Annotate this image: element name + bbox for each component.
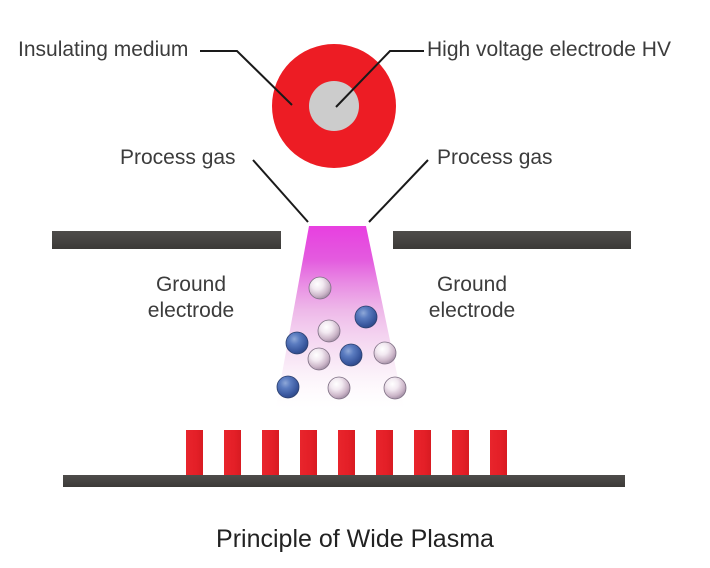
label-ground-electrode-left: Ground electrode [103, 272, 279, 324]
label-ground-electrode-left-line2: electrode [103, 298, 279, 324]
substrate-tooth [262, 430, 279, 478]
particle-blue [340, 344, 362, 366]
particle-blue [286, 332, 308, 354]
plasma-principle-diagram: Insulating medium High voltage electrode… [0, 0, 710, 568]
figure-title: Principle of Wide Plasma [0, 525, 710, 554]
high-voltage-electrode-core [309, 81, 359, 131]
particle-blue [355, 306, 377, 328]
label-insulating-medium: Insulating medium [18, 37, 188, 63]
label-high-voltage-electrode: High voltage electrode HV [427, 37, 671, 63]
substrate-support-bar [63, 475, 625, 487]
substrate-tooth [376, 430, 393, 478]
ground-electrode-right-bar [393, 231, 631, 249]
particle-blue [277, 376, 299, 398]
label-process-gas-right: Process gas [437, 145, 553, 171]
substrate-tooth [186, 430, 203, 478]
substrate-tooth [414, 430, 431, 478]
label-ground-electrode-right-line1: Ground [384, 272, 560, 298]
ground-electrode-left-bar [52, 231, 281, 249]
particle-white [308, 348, 330, 370]
substrate-tooth [338, 430, 355, 478]
particle-white [374, 342, 396, 364]
process-gas-right-leader [369, 160, 428, 222]
label-ground-electrode-left-line1: Ground [103, 272, 279, 298]
label-ground-electrode-right: Ground electrode [384, 272, 560, 324]
particle-white [318, 320, 340, 342]
substrate-teeth-group [186, 430, 507, 478]
substrate-tooth [224, 430, 241, 478]
substrate-tooth [490, 430, 507, 478]
process-gas-left-leader [253, 160, 308, 222]
label-process-gas-left: Process gas [120, 145, 236, 171]
particle-white [309, 277, 331, 299]
substrate-tooth [300, 430, 317, 478]
particle-white [328, 377, 350, 399]
label-ground-electrode-right-line2: electrode [384, 298, 560, 324]
particle-white [384, 377, 406, 399]
substrate-tooth [452, 430, 469, 478]
